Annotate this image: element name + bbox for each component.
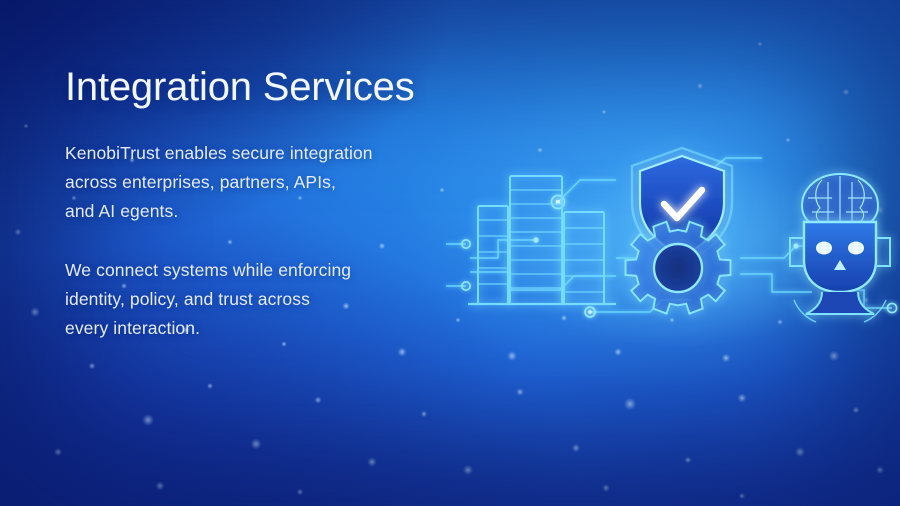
intro-paragraph: KenobiTrust enables secure integration a… [65,139,495,226]
supporting-line-1: We connect systems while enforcing [65,260,351,280]
robot-eye-right [848,242,864,255]
settings-gear [626,222,731,314]
intro-line-3: and AI egents. [65,201,178,221]
supporting-line-2: identity, policy, and trust across [65,289,310,309]
robot-panel-right [876,238,890,266]
intro-line-1: KenobiTrust enables secure integration [65,143,373,163]
brain-icon [802,174,878,224]
supporting-paragraph: We connect systems while enforcing ident… [65,256,495,343]
gear-hub [654,244,702,292]
text-block: Integration Services KenobiTrust enables… [65,66,495,343]
network-integration-illustration [440,140,900,360]
slide-canvas: Integration Services KenobiTrust enables… [0,0,900,506]
page-title: Integration Services [65,66,495,109]
robot-face [804,222,876,292]
robot-eye-left [816,242,832,255]
supporting-line-3: every interaction. [65,318,200,338]
intro-line-2: across enterprises, partners, APIs, [65,172,336,192]
